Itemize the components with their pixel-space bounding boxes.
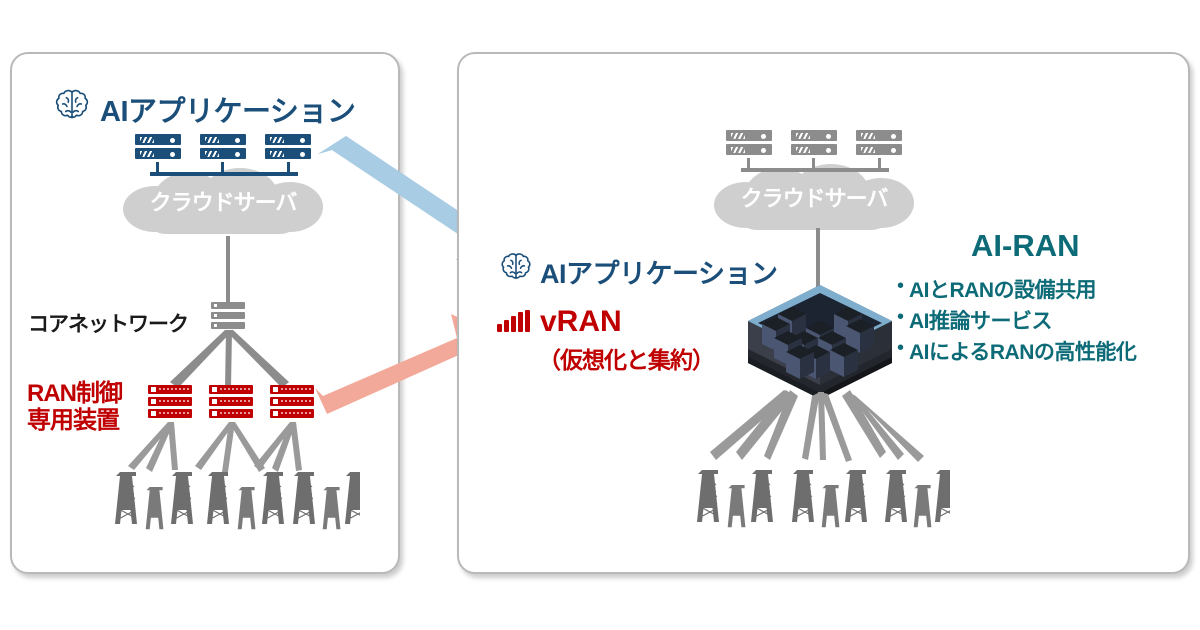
rack-server-icon: [135, 134, 181, 162]
rack-server-icon: [791, 130, 837, 158]
datacenter-to-tower-links: [690, 390, 950, 470]
bullet-dot-icon: •: [897, 338, 904, 358]
brain-icon: [498, 248, 534, 284]
cloud-bus-stub: [812, 158, 815, 170]
cloud-bus-stub: [878, 158, 881, 170]
bullet-dot-icon: •: [897, 276, 904, 296]
left-cloud-label: クラウドサーバ: [123, 185, 323, 217]
rack-server-icon: [200, 134, 246, 162]
cloud-bus-stub: [221, 162, 224, 174]
ai-ran-bullet-text: AIによるRANの高性能化: [909, 336, 1136, 366]
cloud-to-core-line: [226, 236, 230, 302]
cloud-bus-line: [741, 168, 889, 172]
cloud-bus-stub: [747, 158, 750, 170]
cell-tower-group-right: [690, 460, 950, 535]
brain-icon: [52, 84, 92, 124]
cell-tower-group-left: [100, 462, 360, 537]
cloud-bus-stub: [287, 162, 290, 174]
bullet-dot-icon: •: [897, 307, 904, 327]
rack-server-icon: [856, 130, 902, 158]
signal-bars-icon: [497, 310, 530, 332]
datacenter-icon: [742, 283, 898, 399]
cloud-bus-line: [150, 172, 298, 176]
diagram-canvas: AIアプリケーション クラウドサーバ コアネットワーク: [0, 0, 1200, 630]
rack-server-icon: [726, 130, 772, 158]
ai-ran-heading: AI-RAN: [971, 228, 1080, 264]
cloud-to-datacenter-line: [816, 228, 820, 288]
right-cloud-label: クラウドサーバ: [714, 181, 914, 213]
router-icon: [211, 302, 245, 330]
ran-device-icon: [209, 385, 253, 419]
vran-sub-label: （仮想化と集約）: [538, 341, 714, 375]
left-ai-app-label: AIアプリケーション: [100, 88, 355, 130]
vran-label: vRAN: [540, 305, 622, 339]
cloud-bus-stub: [156, 162, 159, 174]
ai-ran-bullet-0: • AIとRANの設備共用: [897, 274, 1096, 304]
ran-device-icon: [148, 385, 192, 419]
ai-ran-bullet-2: • AIによるRANの高性能化: [897, 336, 1136, 366]
ai-ran-bullet-text: AIとRANの設備共用: [909, 274, 1096, 304]
ai-ran-bullet-1: • AI推論サービス: [897, 305, 1052, 335]
ai-ran-bullet-text: AI推論サービス: [909, 305, 1052, 335]
